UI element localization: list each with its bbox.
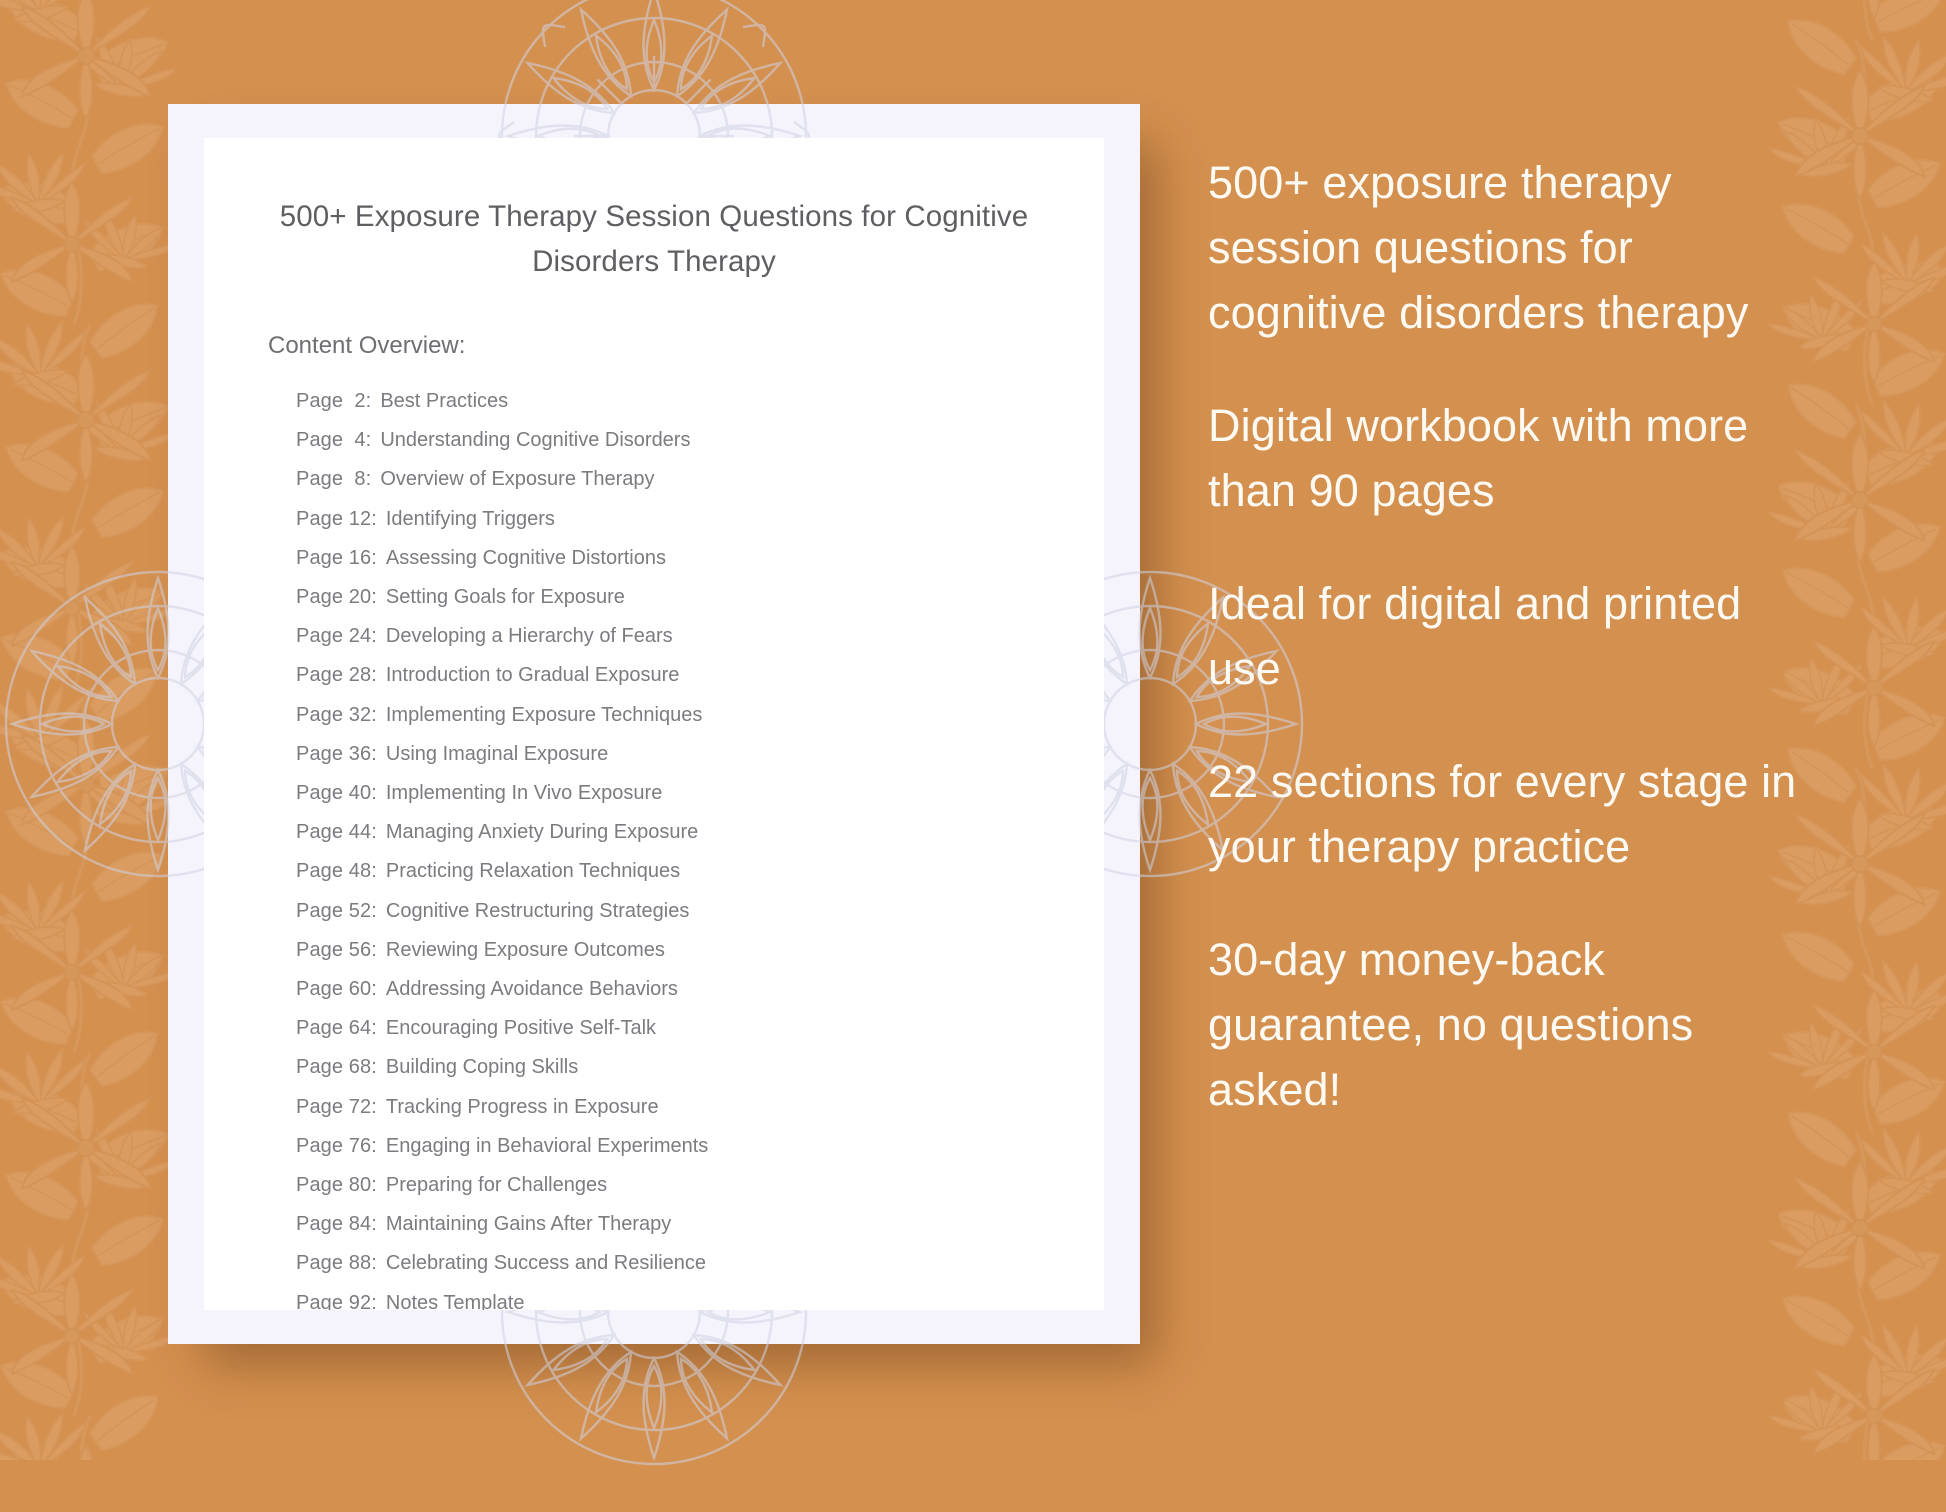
toc-entry-page: Page 20: <box>296 578 377 617</box>
toc-entry-page: Page 28: <box>296 656 377 695</box>
toc-entry: Page 8:Overview of Exposure Therapy <box>296 460 1104 499</box>
toc-entry-page: Page 88: <box>296 1244 377 1283</box>
toc-entry-page: Page 4: <box>296 421 371 460</box>
toc-entry-title: Best Practices <box>371 382 508 421</box>
toc-entry-page: Page 2: <box>296 382 371 421</box>
toc-entry-title: Practicing Relaxation Techniques <box>377 852 680 891</box>
toc-entry-page: Page 44: <box>296 813 377 852</box>
toc-entry-title: Maintaining Gains After Therapy <box>377 1205 671 1244</box>
toc-entry-page: Page 40: <box>296 774 377 813</box>
toc-entry: Page 40:Implementing In Vivo Exposure <box>296 774 1104 813</box>
marketing-block: 30-day money-back guarantee, no question… <box>1208 927 1808 1122</box>
toc-entry: Page 44:Managing Anxiety During Exposure <box>296 813 1104 852</box>
toc-entry-page: Page 80: <box>296 1166 377 1205</box>
toc-entry-page: Page 56: <box>296 931 377 970</box>
page-title: 500+ Exposure Therapy Session Questions … <box>266 194 1042 284</box>
toc-entry: Page 80:Preparing for Challenges <box>296 1166 1104 1205</box>
toc-entry-title: Preparing for Challenges <box>377 1166 607 1205</box>
floral-vine-repeat <box>0 0 182 1460</box>
toc-entry-page: Page 76: <box>296 1127 377 1166</box>
toc-entry: Page 12:Identifying Triggers <box>296 500 1104 539</box>
toc-entry-page: Page 60: <box>296 970 377 1009</box>
toc-entry-page: Page 68: <box>296 1048 377 1087</box>
toc-entry-title: Tracking Progress in Exposure <box>377 1088 659 1127</box>
toc-entry-title: Notes Template <box>377 1284 525 1310</box>
toc-entry-page: Page 84: <box>296 1205 377 1244</box>
toc-entry: Page 68:Building Coping Skills <box>296 1048 1104 1087</box>
toc-entry-title: Managing Anxiety During Exposure <box>377 813 698 852</box>
table-of-contents: Page 2:Best PracticesPage 4:Understandin… <box>204 382 1104 1310</box>
toc-entry-title: Identifying Triggers <box>377 500 555 539</box>
toc-entry-page: Page 12: <box>296 500 377 539</box>
marketing-block: Digital workbook with more than 90 pages <box>1208 393 1808 523</box>
toc-entry-page: Page 16: <box>296 539 377 578</box>
toc-entry-page: Page 8: <box>296 460 371 499</box>
toc-entry: Page 24:Developing a Hierarchy of Fears <box>296 617 1104 656</box>
toc-entry: Page 64:Encouraging Positive Self-Talk <box>296 1009 1104 1048</box>
toc-entry: Page 52:Cognitive Restructuring Strategi… <box>296 892 1104 931</box>
toc-entry-title: Setting Goals for Exposure <box>377 578 625 617</box>
marketing-block: 500+ exposure therapy session questions … <box>1208 150 1808 345</box>
toc-entry-title: Cognitive Restructuring Strategies <box>377 892 689 931</box>
toc-entry: Page 36:Using Imaginal Exposure <box>296 735 1104 774</box>
toc-entry-title: Encouraging Positive Self-Talk <box>377 1009 656 1048</box>
toc-entry-title: Celebrating Success and Resilience <box>377 1244 706 1283</box>
toc-entry-page: Page 64: <box>296 1009 377 1048</box>
toc-entry: Page 2:Best Practices <box>296 382 1104 421</box>
toc-entry: Page 20:Setting Goals for Exposure <box>296 578 1104 617</box>
toc-entry-title: Engaging in Behavioral Experiments <box>377 1127 708 1166</box>
marketing-block: Ideal for digital and printed use <box>1208 571 1808 701</box>
toc-entry: Page 72:Tracking Progress in Exposure <box>296 1088 1104 1127</box>
toc-entry: Page 88:Celebrating Success and Resilien… <box>296 1244 1104 1283</box>
toc-entry-page: Page 92: <box>296 1284 377 1310</box>
toc-entry-title: Using Imaginal Exposure <box>377 735 608 774</box>
content-overview-label: Content Overview: <box>268 332 1104 360</box>
toc-entry: Page 56:Reviewing Exposure Outcomes <box>296 931 1104 970</box>
paper-sheet: 500+ Exposure Therapy Session Questions … <box>204 138 1104 1310</box>
toc-entry-title: Implementing Exposure Techniques <box>377 696 702 735</box>
toc-entry-title: Assessing Cognitive Distortions <box>377 539 666 578</box>
toc-entry-page: Page 32: <box>296 696 377 735</box>
toc-entry: Page 48:Practicing Relaxation Techniques <box>296 852 1104 891</box>
document-card: 500+ Exposure Therapy Session Questions … <box>168 104 1140 1344</box>
toc-entry-title: Understanding Cognitive Disorders <box>371 421 690 460</box>
toc-entry-title: Overview of Exposure Therapy <box>371 460 654 499</box>
toc-entry-page: Page 52: <box>296 892 377 931</box>
toc-entry-page: Page 72: <box>296 1088 377 1127</box>
toc-entry: Page 32:Implementing Exposure Techniques <box>296 696 1104 735</box>
toc-entry-page: Page 48: <box>296 852 377 891</box>
toc-entry-page: Page 36: <box>296 735 377 774</box>
toc-entry: Page 28:Introduction to Gradual Exposure <box>296 656 1104 695</box>
toc-entry-page: Page 24: <box>296 617 377 656</box>
marketing-block: 22 sections for every stage in your ther… <box>1208 749 1808 879</box>
toc-entry-title: Addressing Avoidance Behaviors <box>377 970 678 1009</box>
toc-entry: Page 16:Assessing Cognitive Distortions <box>296 539 1104 578</box>
toc-entry-title: Implementing In Vivo Exposure <box>377 774 662 813</box>
toc-entry-title: Developing a Hierarchy of Fears <box>377 617 673 656</box>
toc-entry: Page 84:Maintaining Gains After Therapy <box>296 1205 1104 1244</box>
marketing-column: 500+ exposure therapy session questions … <box>1208 150 1808 1122</box>
toc-entry: Page 60:Addressing Avoidance Behaviors <box>296 970 1104 1009</box>
toc-entry-title: Building Coping Skills <box>377 1048 578 1087</box>
toc-entry-title: Reviewing Exposure Outcomes <box>377 931 665 970</box>
toc-entry: Page 92:Notes Template <box>296 1284 1104 1310</box>
toc-entry: Page 76:Engaging in Behavioral Experimen… <box>296 1127 1104 1166</box>
toc-entry: Page 4:Understanding Cognitive Disorders <box>296 421 1104 460</box>
toc-entry-title: Introduction to Gradual Exposure <box>377 656 680 695</box>
